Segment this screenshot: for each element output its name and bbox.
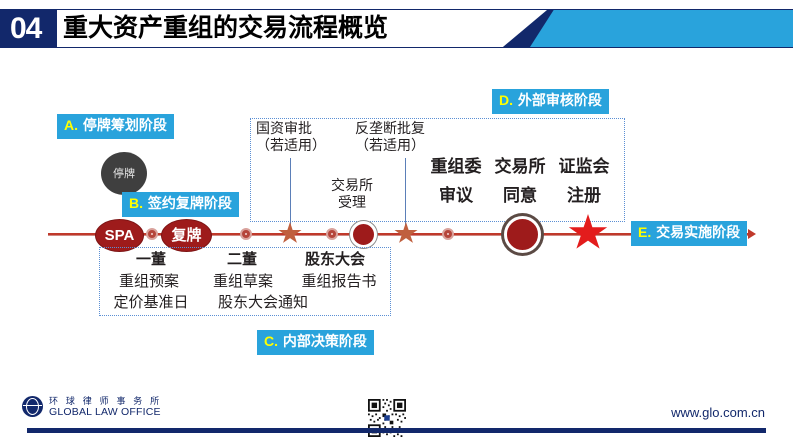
doc-2: 重组草案 xyxy=(197,272,289,291)
globe-logo-icon xyxy=(22,396,43,417)
stage-label-a[interactable]: A. 停牌筹划阶段 xyxy=(57,114,174,139)
header-accent-plate xyxy=(530,10,793,47)
decision-meetings-row: 一董二董股东大会 xyxy=(105,250,383,269)
timeline-dot-2 xyxy=(240,228,252,240)
stage-e-letter: E. xyxy=(638,224,651,240)
decision-docs-row: 重组预案重组草案重组报告书 xyxy=(101,272,389,291)
timeline-circle-2 xyxy=(504,216,541,253)
meeting-1: 一董 xyxy=(105,250,197,269)
timeline-circle-1 xyxy=(350,221,377,248)
extra-2: 股东大会通知 xyxy=(203,293,323,312)
timeline-dot-4 xyxy=(442,228,454,240)
page-title: 重大资产重组的交易流程概览 xyxy=(63,10,388,47)
timeline-dot-3 xyxy=(326,228,338,240)
review-orgs-row: 重组委交易所证监会 xyxy=(424,157,616,178)
doc-3: 重组报告书 xyxy=(289,272,389,291)
meeting-3: 股东大会 xyxy=(287,250,383,269)
qr-code-icon xyxy=(368,396,406,440)
halt-badge: 停牌 xyxy=(101,152,147,195)
timeline-dot-1 xyxy=(146,228,158,240)
stage-b-text: 签约复牌阶段 xyxy=(148,196,232,212)
section-number: 04 xyxy=(10,10,54,47)
stage-c-text: 内部决策阶段 xyxy=(283,334,367,350)
review-org-2: 交易所 xyxy=(488,157,552,178)
footer-divider xyxy=(27,428,766,433)
antitrust-approval-text: 反垄断批复 （若适用） xyxy=(355,121,425,155)
exchange-accept-text: 交易所 受理 xyxy=(331,178,373,212)
stage-a-text: 停牌筹划阶段 xyxy=(83,118,167,134)
stage-label-e[interactable]: E. 交易实施阶段 xyxy=(631,221,747,246)
stage-label-c[interactable]: C. 内部决策阶段 xyxy=(257,330,374,355)
stage-c-letter: C. xyxy=(264,333,278,349)
review-actions-row: 审议同意注册 xyxy=(424,186,616,207)
review-action-1: 审议 xyxy=(424,186,488,207)
antitrust-line1: 反垄断批复 xyxy=(355,121,425,137)
exchange-line1: 交易所 xyxy=(331,178,373,194)
stage-b-letter: B. xyxy=(129,195,143,211)
website-url: www.glo.com.cn xyxy=(671,405,765,420)
sasac-approval-text: 国资审批 （若适用） xyxy=(256,121,326,155)
exchange-line2: 受理 xyxy=(338,195,366,211)
antitrust-line2: （若适用） xyxy=(355,138,425,154)
doc-1: 重组预案 xyxy=(101,272,197,291)
stage-label-d[interactable]: D. 外部审核阶段 xyxy=(492,89,609,114)
sasac-line2: （若适用） xyxy=(256,138,326,154)
review-org-3: 证监会 xyxy=(552,157,616,178)
org-name-en: GLOBAL LAW OFFICE xyxy=(49,406,161,418)
stage-d-letter: D. xyxy=(499,92,513,108)
stage-a-letter: A. xyxy=(64,117,78,133)
stage-label-b[interactable]: B. 签约复牌阶段 xyxy=(122,192,239,217)
slide-canvas: 04 重大资产重组的交易流程概览 A. 停牌筹划阶段 停牌 B. 签约复牌阶段 … xyxy=(0,0,793,446)
decision-extra-row: 定价基准日股东大会通知 xyxy=(99,293,323,312)
meeting-2: 二董 xyxy=(197,250,287,269)
review-org-1: 重组委 xyxy=(424,157,488,178)
review-action-3: 注册 xyxy=(552,186,616,207)
sasac-line1: 国资审批 xyxy=(256,121,312,137)
extra-1: 定价基准日 xyxy=(99,293,203,312)
timeline-end-arrow xyxy=(748,229,756,239)
stage-d-text: 外部审核阶段 xyxy=(518,93,602,109)
review-action-2: 同意 xyxy=(488,186,552,207)
stage-e-text: 交易实施阶段 xyxy=(656,225,740,241)
